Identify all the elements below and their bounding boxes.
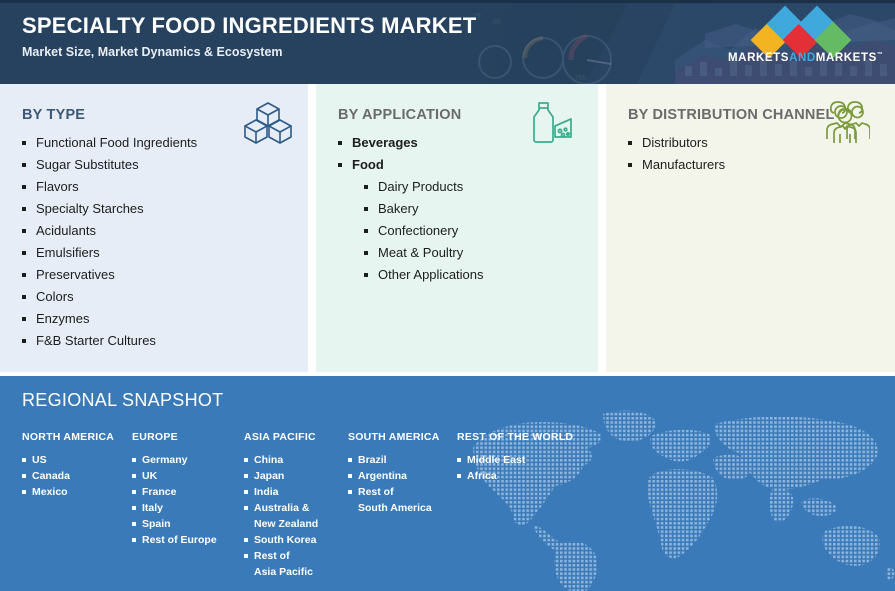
list-item[interactable]: Confectionery [364,220,582,242]
list-item[interactable]: Middle East [457,452,577,468]
region-list: Middle East Africa [457,452,577,484]
list-item[interactable]: Canada [22,468,130,484]
list-item[interactable]: Colors [22,286,292,308]
regional-snapshot-title: REGIONAL SNAPSHOT [22,388,223,412]
list-item[interactable]: Rest of Europe [132,532,242,548]
list-item[interactable]: Enzymes [22,308,292,330]
region-heading: REST OF THE WORLD [457,430,577,444]
list-item[interactable]: Food [338,154,582,176]
svg-text:755: 755 [575,75,587,82]
regional-snapshot-section: REGIONAL SNAPSHOT [0,376,895,591]
list-item[interactable]: UK [132,468,242,484]
header-banner: 2988755 SPECIALTY FOOD INGREDIENTS MARKE… [0,0,895,84]
panel-by-type-list: Functional Food Ingredients Sugar Substi… [22,132,292,352]
region-column-rest-of-the-world: REST OF THE WORLD Middle East Africa [457,430,577,484]
logo-wordmark: MARKETSANDMARKETS™ [728,52,878,64]
page-title: SPECIALTY FOOD INGREDIENTS MARKET [22,12,476,40]
region-list: US Canada Mexico [22,452,130,500]
logo-word-markets2: MARKETS [816,52,877,64]
logo-word-markets1: MARKETS [728,52,789,64]
markets-and-markets-logo[interactable]: MARKETSANDMARKETS™ [728,14,878,70]
list-item[interactable]: Bakery [364,198,582,220]
list-item[interactable]: Africa [457,468,577,484]
milk-bottle-cheese-icon [527,100,579,144]
region-column-europe: EUROPE Germany UK France Italy Spain Res… [132,430,242,548]
region-heading: NORTH AMERICA [22,430,130,444]
list-item[interactable]: Dairy Products [364,176,582,198]
panel-by-application-sublist: Dairy Products Bakery Confectionery Meat… [338,176,582,286]
list-item[interactable]: Argentina [348,468,460,484]
list-item[interactable]: Manufacturers [628,154,879,176]
header-text-block: SPECIALTY FOOD INGREDIENTS MARKET Market… [22,12,476,60]
logo-diamonds [728,14,878,52]
list-item[interactable]: Rest ofSouth America [348,484,460,516]
region-column-north-america: NORTH AMERICA US Canada Mexico [22,430,130,500]
list-item[interactable]: Brazil [348,452,460,468]
list-item[interactable]: Emulsifiers [22,242,292,264]
header-top-divider [0,0,895,3]
list-item[interactable]: Italy [132,500,242,516]
infographic-page: 2988755 SPECIALTY FOOD INGREDIENTS MARKE… [0,0,895,591]
list-item[interactable]: F&B Starter Cultures [22,330,292,352]
cubes-icon [243,101,293,145]
people-group-icon [822,101,870,145]
list-item[interactable]: Rest ofAsia Pacific [244,548,366,580]
list-item[interactable]: South Korea [244,532,366,548]
svg-text:88: 88 [493,19,501,26]
category-panels: BY TYPE Functional Food Ingredients Suga… [0,84,895,372]
logo-word-and: AND [789,52,816,64]
logo-trademark: ™ [877,52,884,58]
region-list: Brazil Argentina Rest ofSouth America [348,452,460,516]
region-heading: SOUTH AMERICA [348,430,460,444]
region-list: Germany UK France Italy Spain Rest of Eu… [132,452,242,548]
list-item[interactable]: Preservatives [22,264,292,286]
list-item[interactable]: Sugar Substitutes [22,154,292,176]
region-column-south-america: SOUTH AMERICA Brazil Argentina Rest ofSo… [348,430,460,516]
list-item[interactable]: France [132,484,242,500]
page-subtitle: Market Size, Market Dynamics & Ecosystem [22,44,476,60]
list-item[interactable]: Meat & Poultry [364,242,582,264]
list-item[interactable]: US [22,452,130,468]
world-map [455,396,895,591]
list-item[interactable]: Flavors [22,176,292,198]
list-item[interactable]: Other Applications [364,264,582,286]
list-item[interactable]: Specialty Starches [22,198,292,220]
region-heading: EUROPE [132,430,242,444]
list-item[interactable]: Spain [132,516,242,532]
list-item[interactable]: Mexico [22,484,130,500]
list-item[interactable]: Germany [132,452,242,468]
list-item[interactable]: Acidulants [22,220,292,242]
